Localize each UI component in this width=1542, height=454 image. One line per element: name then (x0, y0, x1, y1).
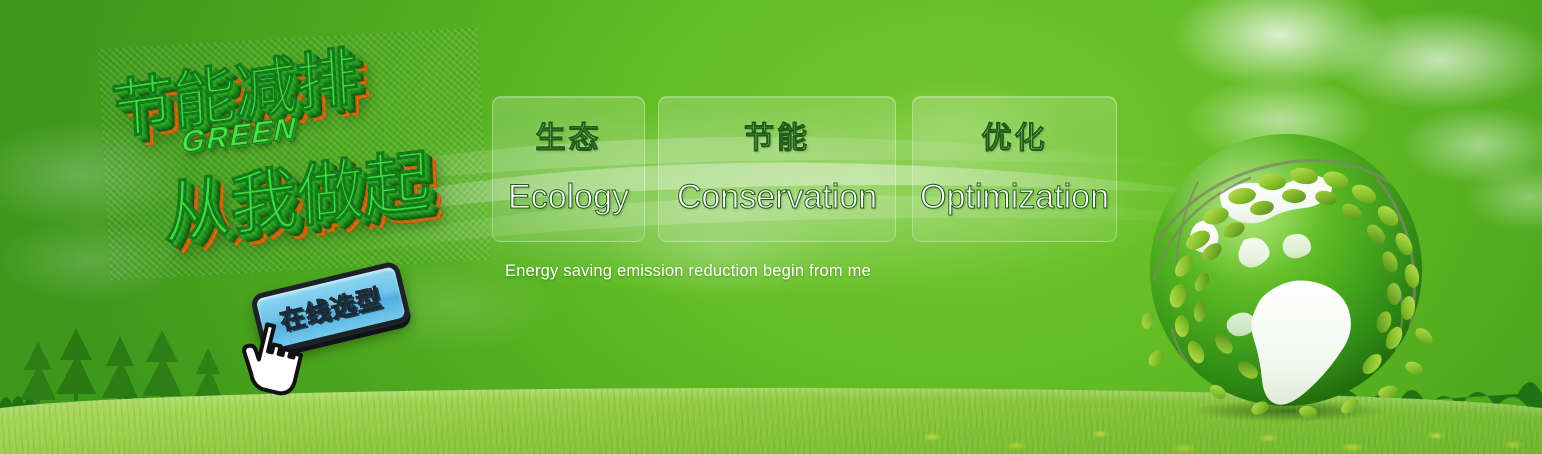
feature-card-optimization[interactable]: 优化 Optimization (912, 96, 1117, 242)
feature-card-cn-label: 优化 (982, 124, 1048, 154)
green-banner: 节能减排 GREEN 从我做起 在线选型 生态 Ecology 节能 Conse… (0, 0, 1542, 454)
feature-card-conservation[interactable]: 节能 Conservation (658, 96, 896, 242)
leafy-earth-globe-icon (1138, 120, 1434, 420)
feature-card-cn-label: 节能 (744, 124, 810, 154)
tagline-text: Energy saving emission reduction begin f… (505, 262, 871, 281)
feature-card-ecology[interactable]: 生态 Ecology (492, 96, 645, 242)
feature-card-en-label: Ecology (508, 180, 629, 214)
cloud-icon (1280, 0, 1542, 130)
headline-3d: 节能减排 GREEN 从我做起 (98, 28, 490, 281)
cloud-icon (1440, 150, 1542, 245)
feature-card-en-label: Conservation (677, 180, 877, 214)
cloud-icon (1130, 0, 1430, 110)
feature-card-cn-label: 生态 (536, 124, 602, 154)
feature-card-en-label: Optimization (920, 180, 1109, 214)
